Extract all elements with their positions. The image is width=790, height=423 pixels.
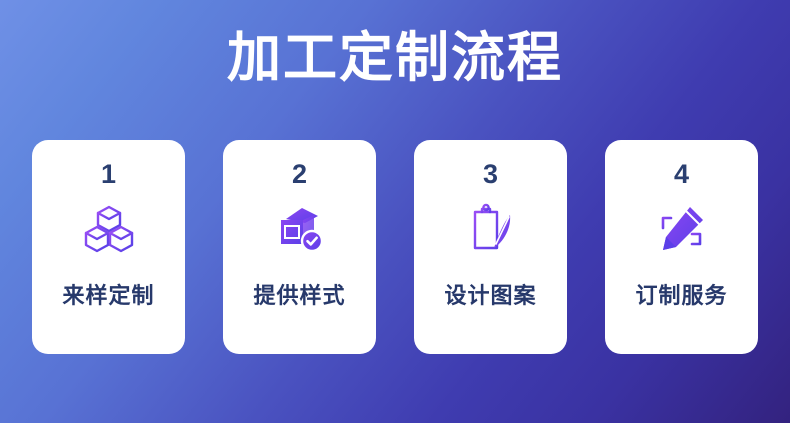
page-title: 加工定制流程 — [0, 24, 790, 92]
step-card-4[interactable]: 4 — [605, 140, 758, 354]
step-card-2[interactable]: 2 — [223, 140, 376, 354]
pencil-customize-icon — [654, 202, 710, 256]
step-number: 3 — [483, 158, 498, 190]
box-check-icon — [272, 202, 328, 256]
step-card-3[interactable]: 3 — [414, 140, 567, 354]
step-number: 1 — [101, 158, 116, 190]
cubes-icon — [81, 202, 137, 256]
clipboard-quill-icon — [463, 202, 519, 256]
step-number: 4 — [674, 158, 689, 190]
step-label: 来样定制 — [62, 282, 154, 310]
process-steps-row: 1 — [32, 140, 758, 354]
step-card-1[interactable]: 1 — [32, 140, 185, 354]
step-number: 2 — [292, 158, 307, 190]
step-label: 订制服务 — [635, 282, 727, 310]
process-banner: 加工定制流程 1 — [0, 0, 790, 423]
step-label: 提供样式 — [253, 282, 345, 310]
step-label: 设计图案 — [444, 282, 536, 310]
